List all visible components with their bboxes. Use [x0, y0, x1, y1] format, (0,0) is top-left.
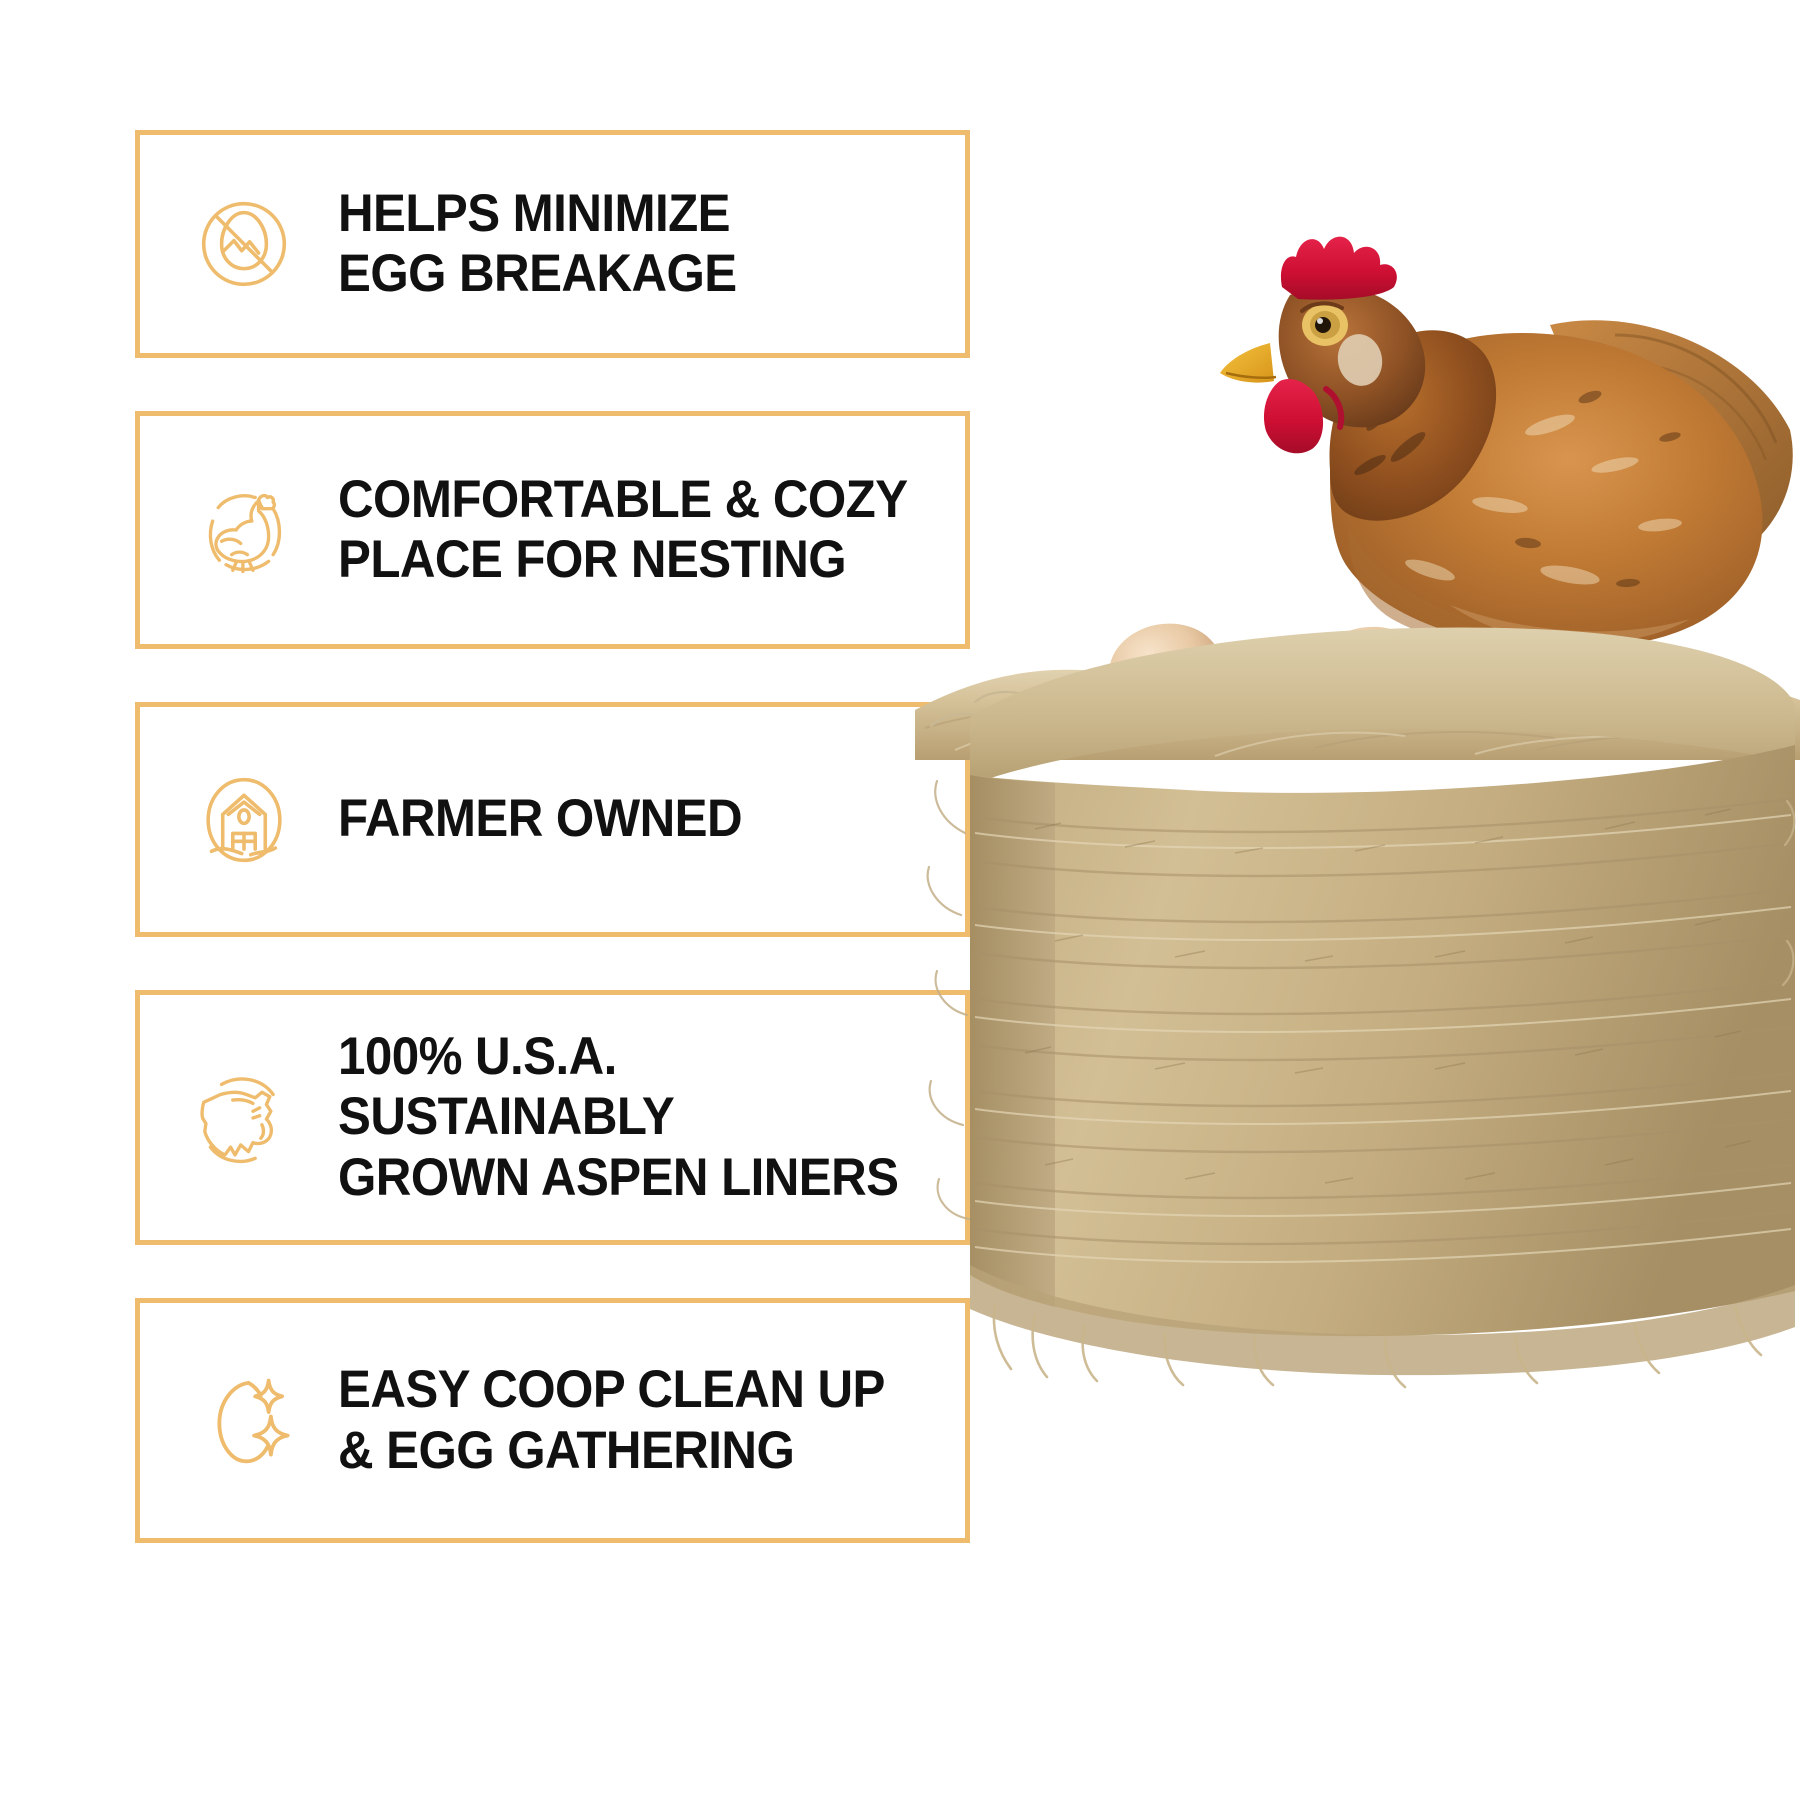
feature-box-egg-breakage[interactable]: HELPS MINIMIZE EGG BREAKAGE [135, 130, 970, 358]
feature-box-nesting[interactable]: COMFORTABLE & COZY PLACE FOR NESTING [135, 411, 970, 649]
no-broken-egg-icon [188, 188, 300, 300]
product-photo [880, 0, 1800, 1800]
usa-map-icon [188, 1062, 300, 1174]
aspen-shaving-bale [915, 585, 1800, 1395]
feature-label: COMFORTABLE & COZY PLACE FOR NESTING [338, 470, 908, 591]
infographic-canvas: HELPS MINIMIZE EGG BREAKAGE COMFORTA [0, 0, 1800, 1800]
nesting-hen-icon [188, 474, 300, 586]
feature-label: 100% U.S.A. SUSTAINABLY GROWN ASPEN LINE… [338, 1027, 921, 1208]
feature-label: HELPS MINIMIZE EGG BREAKAGE [338, 184, 737, 305]
feature-box-farmer-owned[interactable]: FARMER OWNED [135, 702, 970, 937]
feature-label: EASY COOP CLEAN UP & EGG GATHERING [338, 1360, 885, 1481]
feature-box-usa-aspen[interactable]: 100% U.S.A. SUSTAINABLY GROWN ASPEN LINE… [135, 990, 970, 1245]
barn-icon [188, 764, 300, 876]
feature-label: FARMER OWNED [338, 789, 742, 849]
feature-list: HELPS MINIMIZE EGG BREAKAGE COMFORTA [135, 130, 970, 1543]
feature-box-easy-cleanup[interactable]: EASY COOP CLEAN UP & EGG GATHERING [135, 1298, 970, 1543]
sparkling-egg-icon [188, 1365, 300, 1477]
